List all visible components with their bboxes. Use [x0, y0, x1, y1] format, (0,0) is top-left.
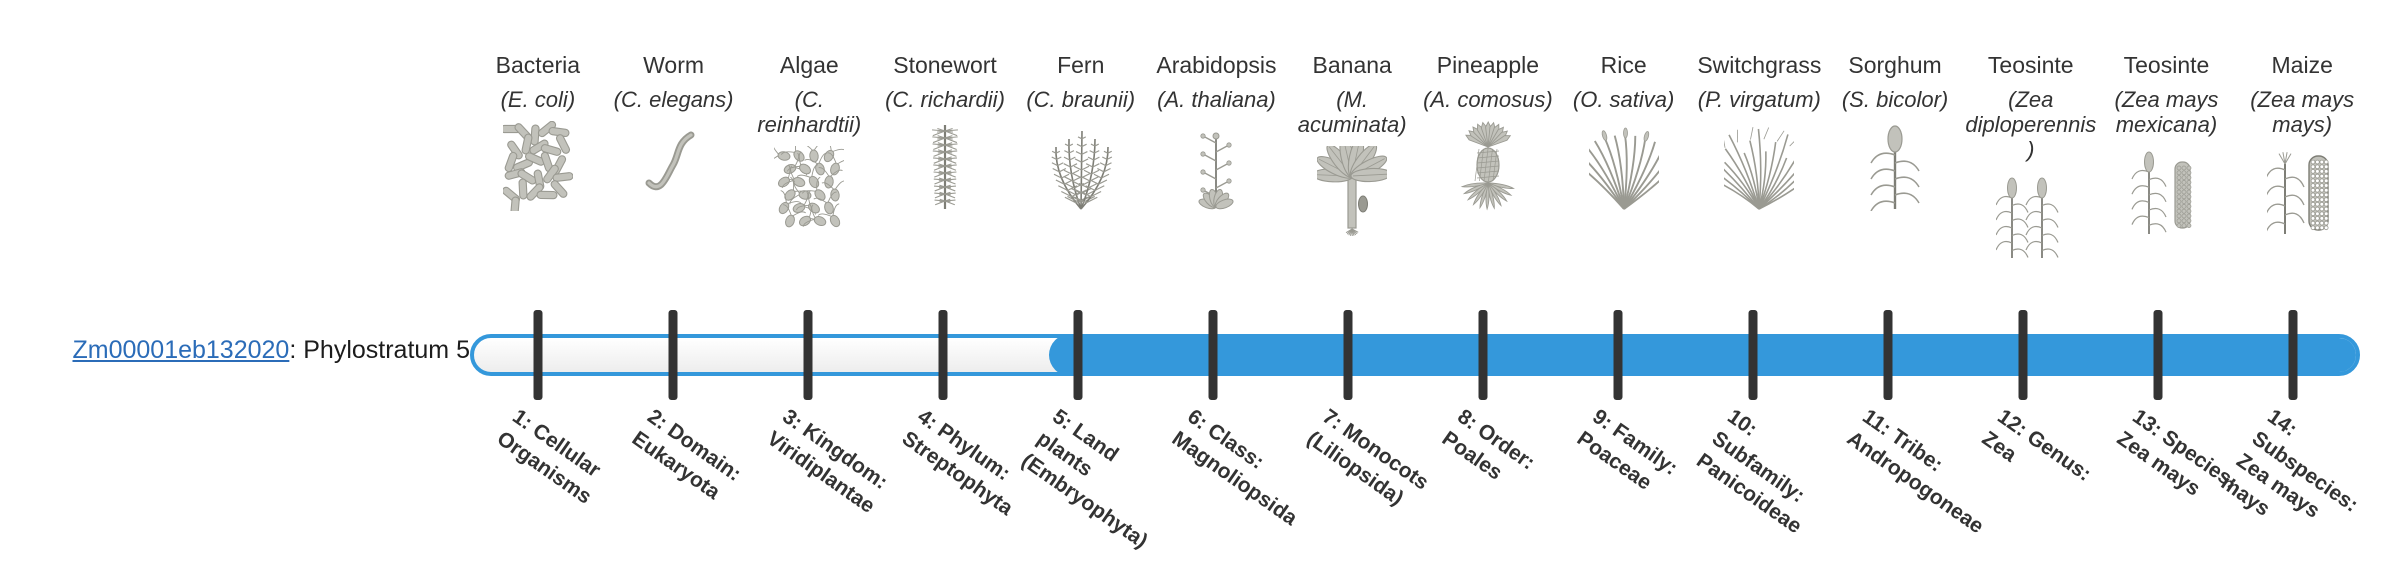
rank-label: 12: Genus: Zea: [1976, 404, 2115, 524]
rank-name: Phylum: Streptophyta: [897, 419, 1016, 520]
rank-label: 14: Subspecies: Zea mays mays: [2215, 404, 2385, 568]
species-common-name: Worm: [643, 52, 704, 78]
species-common-name: Algae: [780, 52, 839, 78]
rank-number: 9:: [1588, 405, 1617, 435]
species-common-name: Rice: [1601, 52, 1647, 78]
progress-fill: [1049, 334, 2360, 376]
sorghum-illustration: [1829, 119, 1961, 211]
rank-name: Cellular Organisms: [492, 419, 604, 509]
rank-number: 3:: [778, 405, 807, 435]
rank-number: 7:: [1318, 405, 1347, 435]
species-common-name: Maize: [2272, 52, 2333, 78]
bacteria-illustration: [472, 119, 604, 211]
rank-name: Kingdom: Viridiplantae: [762, 419, 891, 518]
phylostratum-value-text: Phylostratum 5: [303, 336, 470, 364]
rank-name: Subspecies: Zea mays mays: [2216, 427, 2361, 523]
species-column: Algae(C. reinhardtii): [741, 52, 877, 302]
species-column: Arabidopsis(A. thaliana): [1149, 52, 1285, 302]
rank-label: 6: Class: Magnoliopsida: [1166, 404, 1305, 524]
species-common-name: Stonewort: [893, 52, 997, 78]
species-common-name: Teosinte: [1988, 52, 2074, 78]
species-column: Stonewort(C. richardii): [877, 52, 1013, 302]
species-latin-name: (Zea mays mays): [2236, 88, 2368, 137]
rank-name: Subfamily: Panicoideae: [1692, 427, 1809, 538]
banana-illustration: [1286, 144, 1418, 236]
switchgrass-illustration: [1693, 119, 1825, 211]
species-common-name: Teosinte: [2124, 52, 2210, 78]
pineapple-illustration: [1422, 119, 1554, 211]
rank-label: 1: Cellular Organisms: [491, 404, 630, 524]
rank-name: Domain: Eukaryota: [627, 419, 745, 504]
species-common-name: Sorghum: [1848, 52, 1941, 78]
progress-track: [470, 334, 2360, 376]
species-column: Bacteria(E. coli): [470, 52, 606, 302]
species-common-name: Switchgrass: [1697, 52, 1821, 78]
species-latin-name: (E. coli): [501, 88, 576, 113]
species-column: Maize(Zea mays mays): [2234, 52, 2370, 302]
species-column: Sorghum(S. bicolor): [1827, 52, 1963, 302]
nematode-illustration: [608, 119, 740, 211]
rank-label: 4: Phylum: Streptophyta: [896, 404, 1035, 524]
algae-illustration: [743, 144, 875, 236]
species-latin-name: (Zea diploperennis): [1965, 88, 2097, 162]
rank-label: 11: Tribe: Andropogoneae: [1841, 404, 1980, 524]
gene-phylostratum-label: Zm00001eb132020: Phylostratum 5: [0, 336, 470, 365]
rank-label: 9: Family: Poaceae: [1571, 404, 1710, 524]
rank-number: 6:: [1183, 405, 1212, 435]
species-column: Rice(O. sativa): [1556, 52, 1692, 302]
species-common-name: Fern: [1057, 52, 1104, 78]
species-latin-name: (C. richardii): [885, 88, 1005, 113]
gene-label-separator: :: [289, 336, 303, 364]
species-header-row: Bacteria(E. coli)Worm(C. elegans)Algae(C…: [470, 52, 2370, 302]
rank-number: 2:: [643, 405, 672, 435]
phylostratum-figure: Zm00001eb132020: Phylostratum 5 Bacteria…: [0, 0, 2400, 580]
species-latin-name: (M. acuminata): [1286, 88, 1418, 137]
species-latin-name: (O. sativa): [1573, 88, 1674, 113]
species-column: Pineapple(A. comosus): [1420, 52, 1556, 302]
teosinte-diploperennis-illustration: [1965, 168, 2097, 260]
species-latin-name: (C. braunii): [1026, 88, 1135, 113]
species-latin-name: (A. comosus): [1423, 88, 1553, 113]
rank-number: 4:: [913, 405, 942, 435]
species-column: Switchgrass(P. virgatum): [1691, 52, 1827, 302]
species-column: Fern(C. braunii): [1013, 52, 1149, 302]
rank-name: Monocots (Liliopsida): [1302, 419, 1432, 510]
rank-label: 10: Subfamily: Panicoideae: [1690, 404, 1844, 546]
gene-id-link[interactable]: Zm00001eb132020: [72, 336, 289, 364]
species-column: Banana(M. acuminata): [1284, 52, 1420, 302]
species-latin-name: (A. thaliana): [1157, 88, 1276, 113]
teosinte-mexicana-illustration: [2101, 144, 2233, 236]
species-common-name: Pineapple: [1437, 52, 1539, 78]
rank-label: 3: Kingdom: Viridiplantae: [761, 404, 900, 524]
rank-number: 8:: [1453, 405, 1482, 435]
rank-label: 13: Species: Zea mays: [2111, 404, 2250, 524]
rank-label: 2: Domain: Eukaryota: [626, 404, 765, 524]
species-column: Teosinte(Zea mays mexicana): [2099, 52, 2235, 302]
rank-number: 1:: [508, 405, 537, 435]
rank-label: 5: Land plants (Embryophyta): [1015, 404, 1169, 546]
rank-label-group: 1: Cellular Organisms2: Domain: Eukaryot…: [470, 404, 2360, 580]
maize-illustration: [2236, 144, 2368, 236]
species-latin-name: (S. bicolor): [1842, 88, 1948, 113]
rank-label: 7: Monocots (Liliopsida): [1301, 404, 1440, 524]
phylostratum-progress-bar[interactable]: [470, 334, 2360, 376]
species-common-name: Banana: [1313, 52, 1392, 78]
stonewort-illustration: [879, 119, 1011, 211]
species-latin-name: (C. elegans): [614, 88, 734, 113]
rice-illustration: [1558, 119, 1690, 211]
fern-illustration: [1015, 119, 1147, 211]
rank-label: 8: Order: Poales: [1436, 404, 1575, 524]
rank-name: Genus: Zea: [1977, 426, 2095, 486]
species-common-name: Arabidopsis: [1156, 52, 1276, 78]
rank-name: Class: Magnoliopsida: [1167, 419, 1301, 530]
rank-name: Land plants (Embryophyta): [1017, 419, 1152, 553]
species-common-name: Bacteria: [496, 52, 580, 78]
arabidopsis-illustration: [1151, 119, 1283, 211]
species-latin-name: (P. virgatum): [1698, 88, 1821, 113]
rank-name: Family: Poaceae: [1572, 419, 1681, 495]
species-latin-name: (Zea mays mexicana): [2101, 88, 2233, 137]
rank-number: 5:: [1048, 405, 1077, 435]
species-column: Teosinte(Zea diploperennis): [1963, 52, 2099, 302]
rank-name: Order: Poales: [1437, 419, 1538, 485]
rank-name: Tribe: Andropogoneae: [1842, 425, 1987, 538]
species-latin-name: (C. reinhardtii): [743, 88, 875, 137]
species-column: Worm(C. elegans): [606, 52, 742, 302]
